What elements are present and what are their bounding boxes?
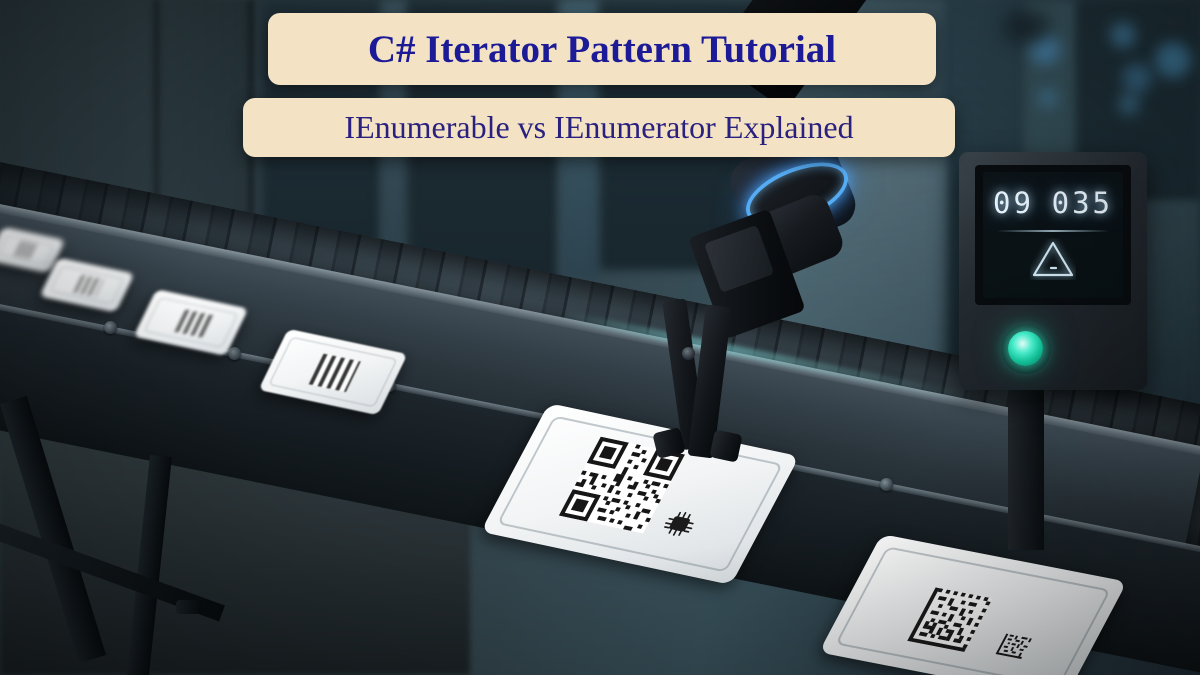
background-bokeh-light-4 — [1122, 63, 1152, 93]
background-dark-spot — [1002, 10, 1050, 44]
background-bokeh-light-5 — [1118, 93, 1140, 115]
display-value-right: 035 — [1052, 186, 1113, 220]
display-screen: 09 035 — [983, 172, 1123, 298]
conveyor-bolt-2 — [228, 347, 241, 360]
conveyor-foot — [176, 600, 202, 614]
conveyor-bolt-5 — [880, 478, 893, 491]
robot-gripper-tip-right — [709, 429, 742, 462]
background-bokeh-light-2 — [1110, 22, 1136, 48]
warning-triangle-icon — [1030, 238, 1076, 280]
conveyor-bolt-1 — [104, 321, 117, 334]
subtitle-banner: IEnumerable vs IEnumerator Explained — [243, 98, 955, 157]
display-divider — [997, 230, 1109, 232]
background-bokeh-light-3 — [1155, 42, 1191, 78]
page-title: C# Iterator Pattern Tutorial — [368, 27, 836, 72]
screenshot-canvas: 09 035 C# Iterator Pattern Tutorial IEnu… — [0, 0, 1200, 675]
panel-mounting-post — [1008, 390, 1044, 550]
status-led — [1008, 331, 1043, 366]
title-banner: C# Iterator Pattern Tutorial — [268, 13, 936, 85]
display-value-left: 09 — [993, 186, 1034, 220]
robot-gripper-pivot-bolt — [682, 347, 695, 360]
page-subtitle: IEnumerable vs IEnumerator Explained — [344, 109, 853, 146]
background-bokeh-light-6 — [1038, 88, 1058, 108]
